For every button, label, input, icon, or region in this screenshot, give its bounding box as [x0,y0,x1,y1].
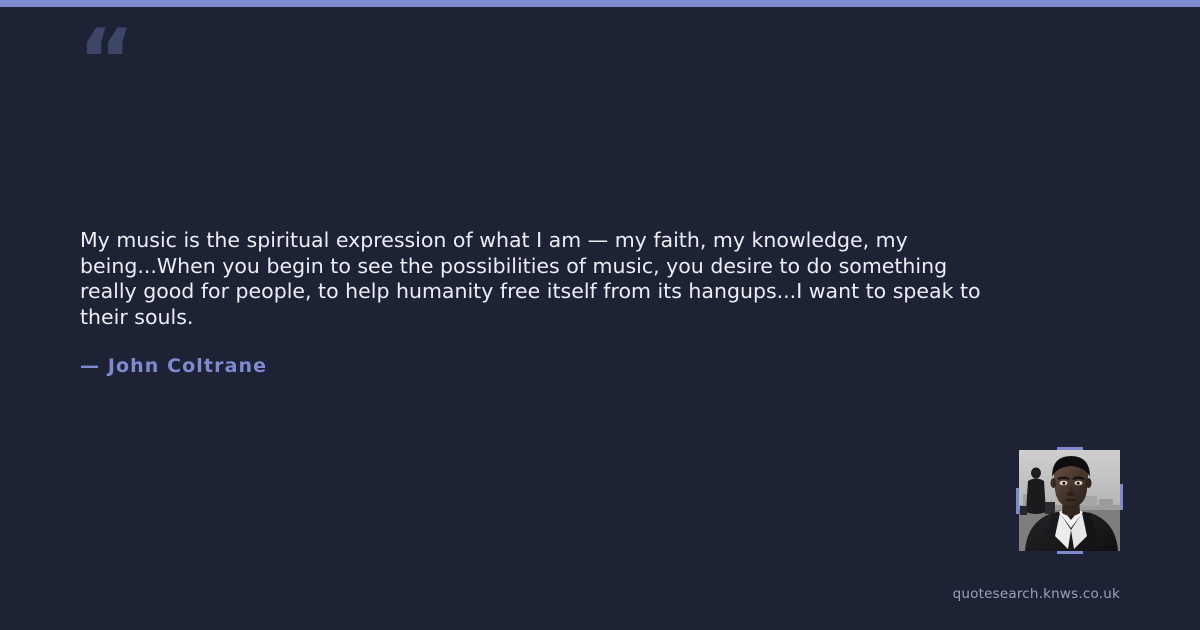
author-portrait [1019,450,1120,551]
portrait-accent-tick-right [1120,484,1123,510]
open-quote-icon: “ [78,18,133,104]
quote-card: “ My music is the spiritual expression o… [0,0,1200,630]
portrait-accent-tick-top [1057,447,1083,450]
quote-text: My music is the spiritual expression of … [80,228,985,330]
portrait-accent-tick-bottom [1057,551,1083,554]
footer-site-url[interactable]: quotesearch.knws.co.uk [953,586,1120,602]
quote-attribution: — John Coltrane [80,355,267,377]
accent-top-bar [0,0,1200,7]
portrait-accent-tick-left [1016,488,1019,514]
author-portrait-image [1019,450,1120,551]
